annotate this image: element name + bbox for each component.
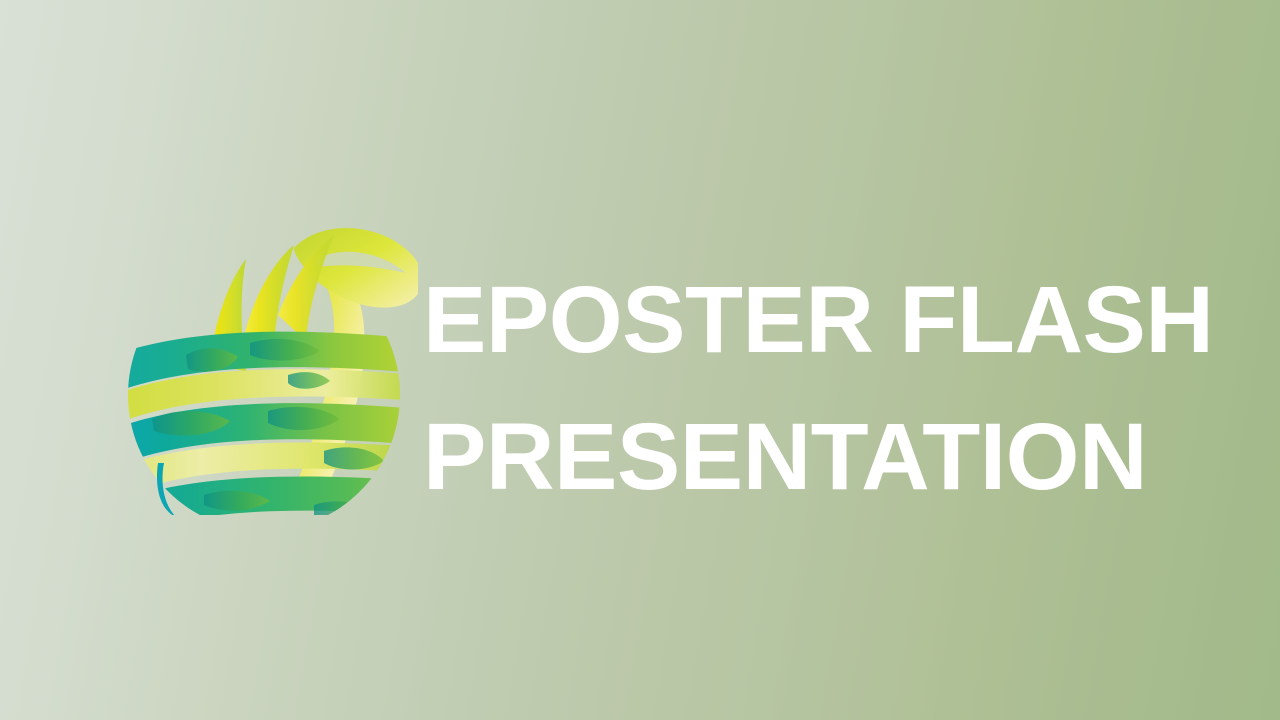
title-slide: EPOSTER FLASH PRESENTATION [0,0,1280,720]
slide-title: EPOSTER FLASH PRESENTATION [423,252,1223,526]
title-line-2: PRESENTATION [423,389,1223,526]
globe-ribbon-logo [118,205,418,515]
title-line-1: EPOSTER FLASH [423,252,1223,389]
